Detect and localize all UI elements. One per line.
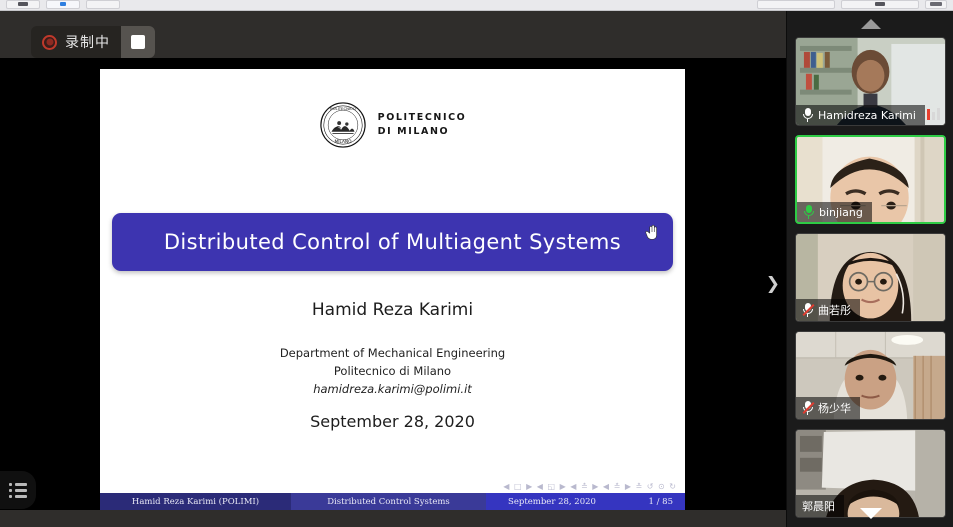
participant-name: 曲若彤: [818, 302, 851, 318]
list-menu-icon: [9, 483, 27, 498]
toolbar-button-right-1[interactable]: [757, 0, 835, 9]
stop-square-icon: [131, 35, 145, 49]
participant-name-badge: binjiang: [797, 202, 872, 222]
toolbar-button-1[interactable]: [6, 0, 40, 9]
svg-text:POLITECNICO: POLITECNICO: [330, 106, 356, 111]
slide-affiliation: Department of Mechanical Engineering Pol…: [100, 345, 685, 398]
footer-title: Distributed Control Systems: [291, 493, 486, 510]
slide-date: September 28, 2020: [100, 412, 685, 431]
shared-screen-stage: 录制中 MILANO POLITECNICO: [0, 11, 786, 527]
slide-title-banner: Distributed Control of Multiagent System…: [112, 213, 673, 271]
microphone-muted-icon: [802, 303, 813, 317]
triangle-up-icon: [861, 19, 881, 29]
politecnico-seal-icon: MILANO POLITECNICO: [319, 101, 367, 149]
participant-name: Hamidreza Karimi: [818, 109, 916, 122]
slide-title: Distributed Control of Multiagent System…: [164, 230, 621, 254]
stop-recording-button[interactable]: [121, 26, 155, 58]
toolbar-button-right-2[interactable]: [841, 0, 919, 9]
logo-line-1: POLITECNICO: [378, 111, 467, 125]
hand-cursor-icon: [645, 224, 659, 240]
participant-tile[interactable]: Hamidreza Karimi: [795, 37, 946, 126]
participant-tile[interactable]: binjiang: [795, 135, 946, 224]
participant-tiles: Hamidreza Karimi: [787, 37, 953, 527]
microphone-icon: [803, 205, 814, 219]
recording-label: 录制中: [65, 32, 110, 52]
beamer-nav-glyphs: ◀ □ ▶ ◀ ◱ ▶ ◀ ≛ ▶ ◀ ≛ ▶ ≛ ↺ ⊙ ↻: [503, 482, 677, 491]
presentation-slide[interactable]: MILANO POLITECNICO POLITECNICO DI MILANO…: [100, 69, 685, 510]
scroll-up-button[interactable]: [787, 11, 953, 37]
zoom-meeting-window: 录制中 MILANO POLITECNICO: [0, 0, 953, 527]
toolbar-button-3[interactable]: [86, 0, 120, 9]
participant-tile[interactable]: 杨少华: [795, 331, 946, 420]
toolbar-button-2[interactable]: [46, 0, 80, 9]
toolbar-button-right-3[interactable]: [925, 0, 947, 9]
slide-list-button[interactable]: [0, 471, 36, 509]
footer-date: September 28, 2020: [486, 493, 618, 510]
participant-name-badge: 杨少华: [796, 397, 860, 419]
participant-video-panel: Hamidreza Karimi: [786, 11, 953, 527]
svg-text:MILANO: MILANO: [334, 139, 352, 145]
window-chrome-bar: [0, 0, 953, 11]
record-dot-icon: [42, 35, 57, 50]
affiliation-department: Department of Mechanical Engineering: [100, 345, 685, 363]
participant-name-badge: 曲若彤: [796, 299, 860, 321]
participant-tile[interactable]: 曲若彤: [795, 233, 946, 322]
chevron-right-icon[interactable]: ❯: [766, 276, 780, 293]
footer-author: Hamid Reza Karimi (POLIMI): [100, 493, 291, 510]
slide-footer: Hamid Reza Karimi (POLIMI) Distributed C…: [100, 493, 685, 510]
affiliation-email: hamidreza.karimi@polimi.it: [100, 381, 685, 399]
microphone-icon: [802, 108, 813, 122]
recording-status: 录制中: [31, 26, 121, 58]
affiliation-university: Politecnico di Milano: [100, 363, 685, 381]
participant-name: binjiang: [819, 206, 863, 219]
scroll-down-button[interactable]: [787, 501, 953, 525]
institution-logo: MILANO POLITECNICO POLITECNICO DI MILANO: [100, 101, 685, 149]
participant-name-badge: Hamidreza Karimi: [796, 105, 925, 125]
participant-name: 杨少华: [818, 400, 851, 416]
recording-indicator[interactable]: 录制中: [31, 26, 155, 58]
audio-level-meter: [927, 108, 940, 120]
logo-line-2: DI MILANO: [378, 125, 467, 139]
footer-page-number: 1 / 85: [618, 493, 685, 510]
microphone-muted-icon: [802, 401, 813, 415]
triangle-down-icon: [860, 508, 882, 519]
logo-wordmark: POLITECNICO DI MILANO: [378, 111, 467, 139]
slide-author: Hamid Reza Karimi: [100, 300, 685, 320]
beamer-navigation-symbols[interactable]: ◀ □ ▶ ◀ ◱ ▶ ◀ ≛ ▶ ◀ ≛ ▶ ≛ ↺ ⊙ ↻: [503, 482, 677, 491]
